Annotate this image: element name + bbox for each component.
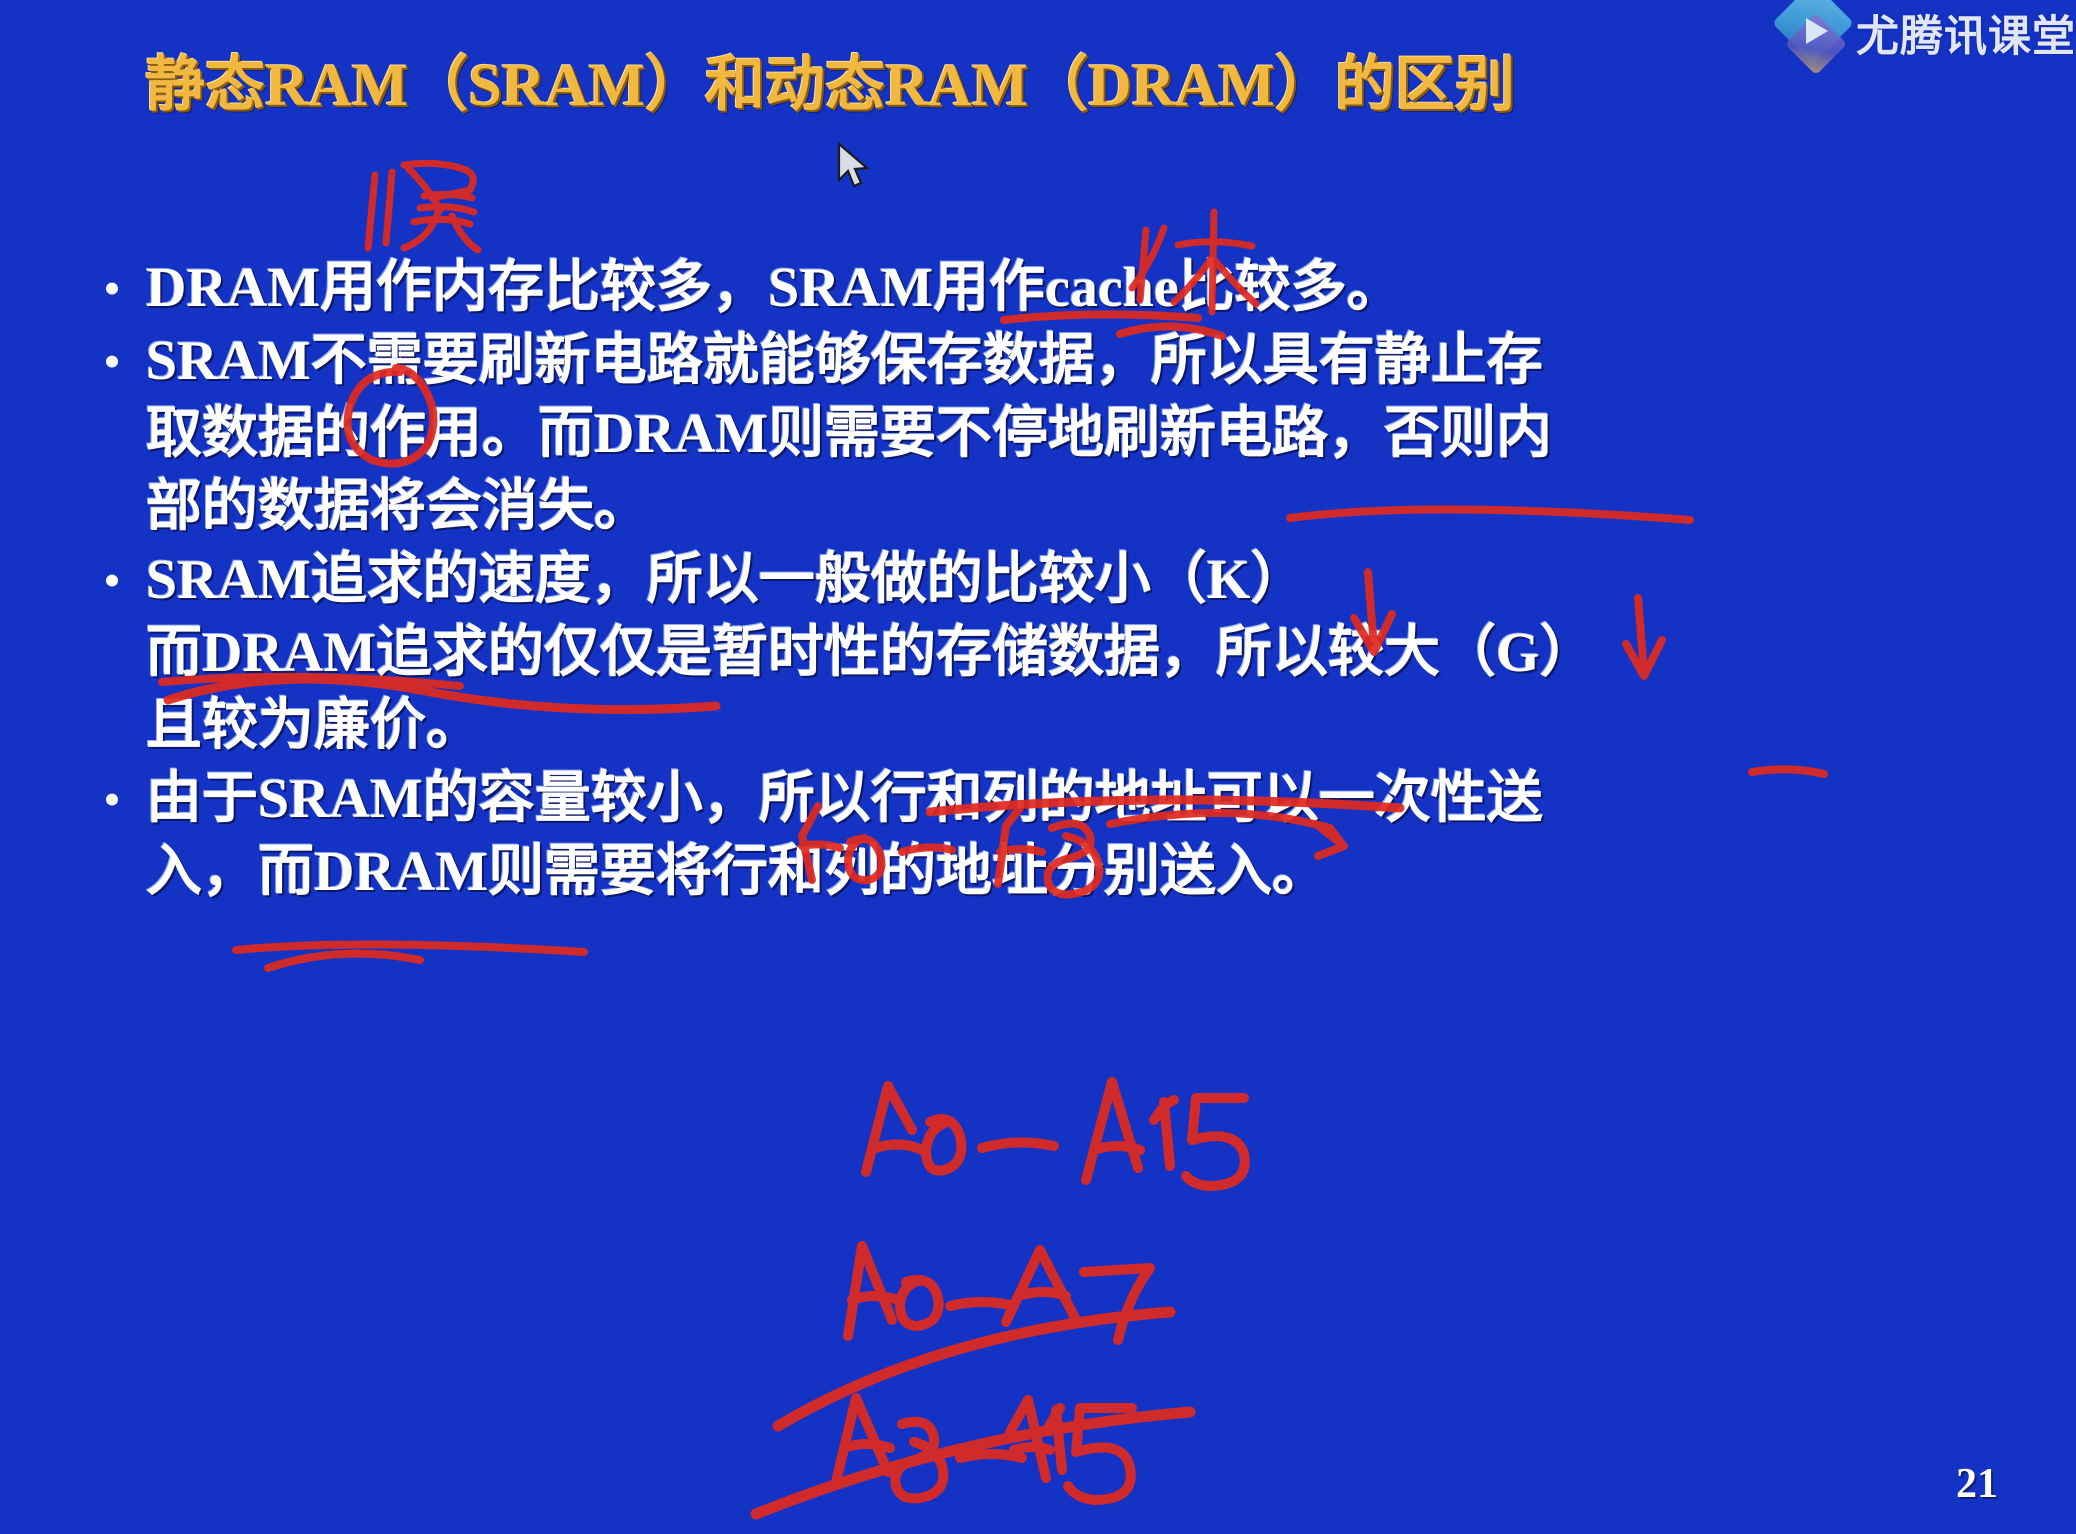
bullet-text: 而DRAM追求的仅仅是暂时性的存储数据，所以较大（G） <box>146 617 2038 690</box>
bullet-line: •SRAM追求的速度，所以一般做的比较小（K） <box>78 544 2038 617</box>
bullet-line: 取数据的作用。而DRAM则需要不停地刷新电路，否则内 <box>78 398 2038 471</box>
annotation-curve-dram-last <box>268 954 420 968</box>
annotation-a0-a15 <box>866 1082 1245 1186</box>
bullet-line: •由于SRAM的容量较小，所以行和列的地址可以一次性送 <box>78 763 2038 836</box>
cursor-arrow-icon <box>839 144 867 186</box>
annotation-underline-sram-4 <box>236 944 584 952</box>
annotation-man-slow <box>368 163 478 250</box>
bullet-marker-icon: • <box>78 544 146 616</box>
bullet-line: •DRAM用作内存比较多，SRAM用作cache比较多。 <box>78 252 2038 325</box>
bullet-line: 部的数据将会消失。 <box>78 471 2038 544</box>
bullet-text: 部的数据将会消失。 <box>146 471 2038 544</box>
slide-title: 静态RAM（SRAM）和动态RAM（DRAM）的区别 <box>145 36 1515 123</box>
play-glyph <box>1806 18 1828 44</box>
bullet-line: 入，而DRAM则需要将行和列的地址分别送入。 <box>78 836 2038 909</box>
play-triangle-icon <box>1780 4 1850 62</box>
bullet-line: 且较为廉价。 <box>78 690 2038 763</box>
bullet-marker-icon: • <box>78 252 146 324</box>
slide-body: •DRAM用作内存比较多，SRAM用作cache比较多。•SRAM不需要刷新电路… <box>78 252 2038 909</box>
presentation-slide: 尤腾讯课堂 静态RAM（SRAM）和动态RAM（DRAM）的区别 •DRAM用作… <box>0 0 2076 1534</box>
bullet-marker-icon: • <box>78 763 146 835</box>
bullet-text: 取数据的作用。而DRAM则需要不停地刷新电路，否则内 <box>146 398 2038 471</box>
bullet-text: 入，而DRAM则需要将行和列的地址分别送入。 <box>146 836 2038 909</box>
bullet-marker-icon: • <box>78 325 146 397</box>
mouse-cursor <box>836 142 876 194</box>
page-number: 21 <box>1956 1460 1998 1508</box>
bullet-text: 由于SRAM的容量较小，所以行和列的地址可以一次性送 <box>146 763 2038 836</box>
annotation-a0-a7 <box>778 1246 1170 1426</box>
bullet-line: •SRAM不需要刷新电路就能够保存数据，所以具有静止存 <box>78 325 2038 398</box>
bullet-text: SRAM追求的速度，所以一般做的比较小（K） <box>146 544 2038 617</box>
bullet-line: 而DRAM追求的仅仅是暂时性的存储数据，所以较大（G） <box>78 617 2038 690</box>
brand-name: 尤腾讯课堂 <box>1856 2 2076 64</box>
bullet-text: SRAM不需要刷新电路就能够保存数据，所以具有静止存 <box>146 325 2038 398</box>
brand-watermark: 尤腾讯课堂 <box>1780 2 2076 64</box>
bullet-text: 且较为廉价。 <box>146 690 2038 763</box>
annotation-a8-a15 <box>756 1398 1190 1514</box>
bullet-text: DRAM用作内存比较多，SRAM用作cache比较多。 <box>146 252 2038 325</box>
